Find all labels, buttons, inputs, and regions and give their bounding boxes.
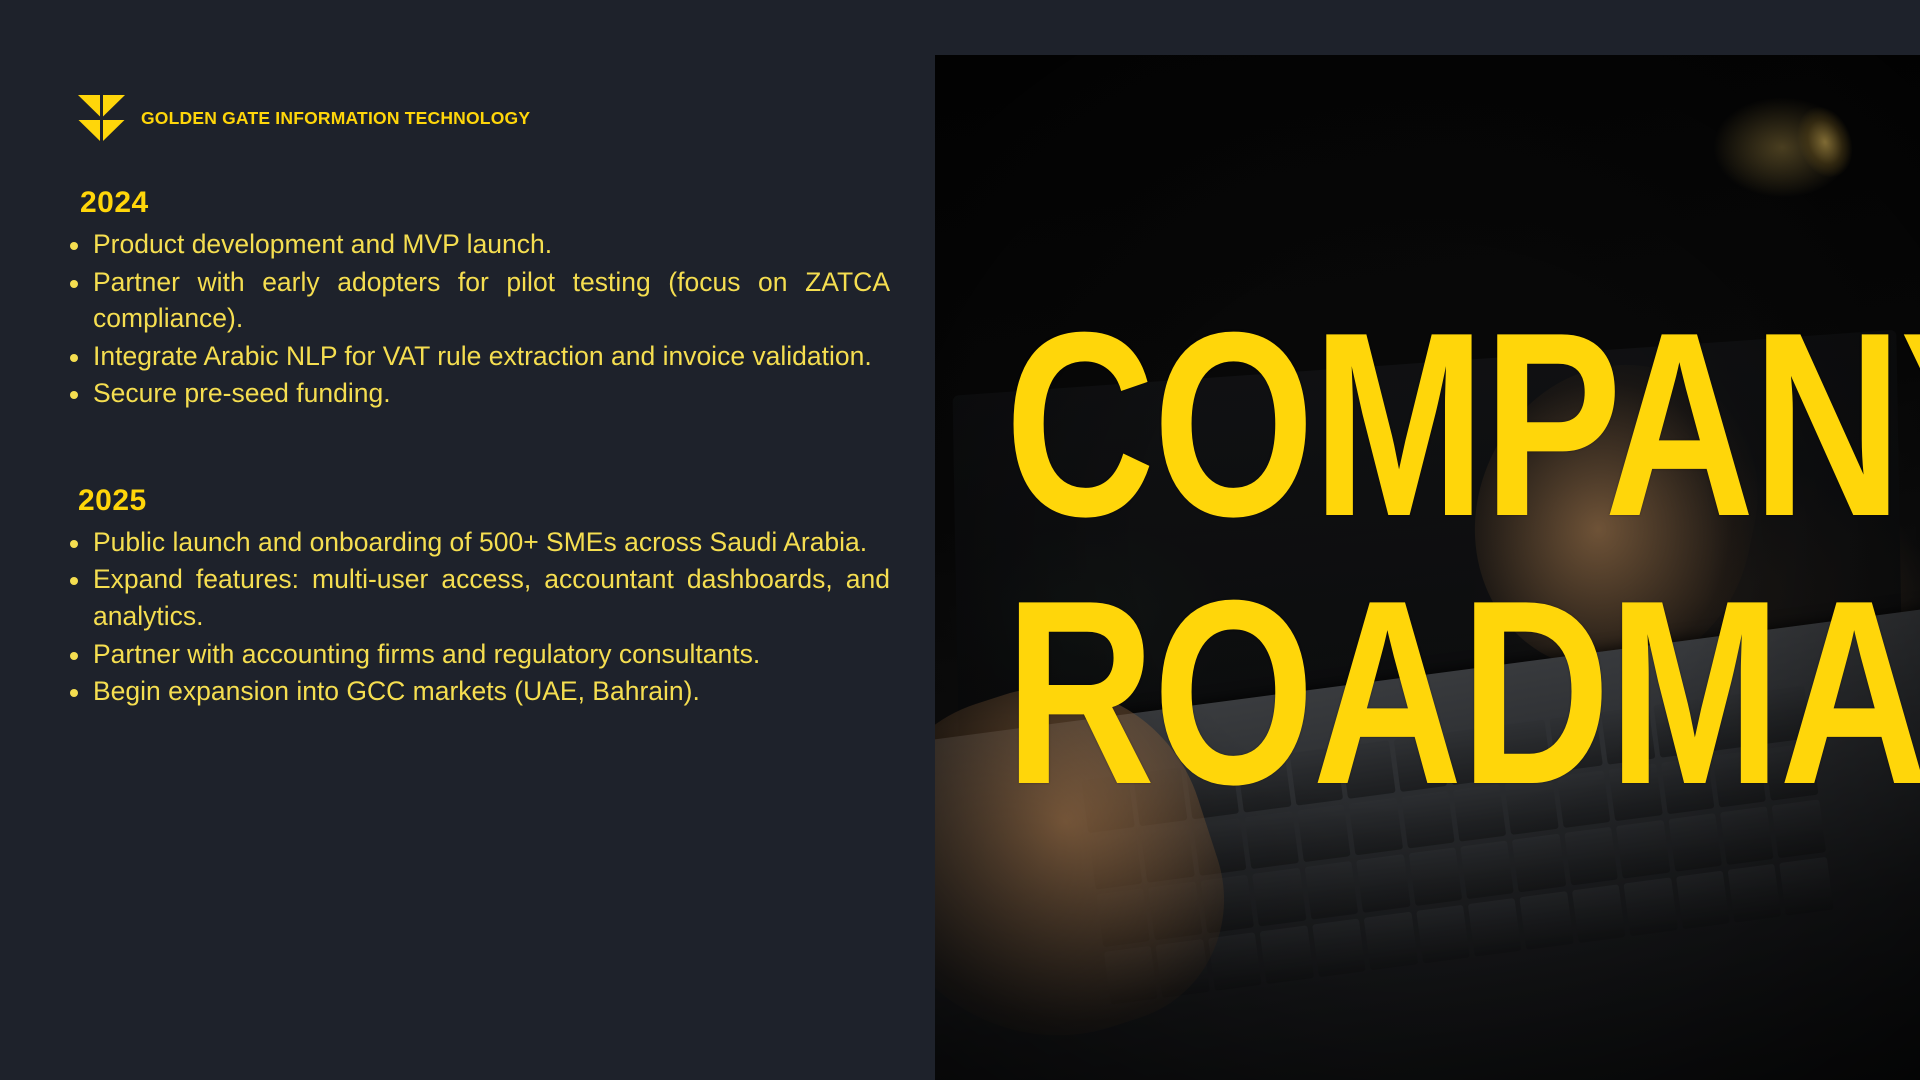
bullet-text: Partner with accounting firms and regula… xyxy=(93,636,890,673)
bullet-text: Partner with early adopters for pilot te… xyxy=(93,264,890,337)
brand-name: GOLDEN GATE INFORMATION TECHNOLOGY xyxy=(141,108,530,129)
roadmap-group-2024: 2024 Product development and MVP launch.… xyxy=(60,186,890,412)
bullet-text: Product development and MVP launch. xyxy=(93,226,890,263)
list-item: Expand features: multi-user access, acco… xyxy=(60,561,890,634)
list-item: Public launch and onboarding of 500+ SME… xyxy=(60,524,890,561)
bullet-list-2024: Product development and MVP launch. Part… xyxy=(60,226,890,412)
list-item: Partner with accounting firms and regula… xyxy=(60,636,890,673)
bullet-text: Integrate Arabic NLP for VAT rule extrac… xyxy=(93,338,890,375)
hero-title-line-1: COMPANY xyxy=(1005,310,1920,541)
logo-triangle-bottom-left xyxy=(78,120,100,142)
roadmap-slide: GOLDEN GATE INFORMATION TECHNOLOGY 2024 … xyxy=(0,0,1920,1080)
bullet-list-2025: Public launch and onboarding of 500+ SME… xyxy=(60,524,890,710)
hero-title-line-2: ROADMAP xyxy=(1005,578,1920,809)
list-item: Product development and MVP launch. xyxy=(60,226,890,263)
roadmap-group-2025: 2025 Public launch and onboarding of 500… xyxy=(60,484,890,710)
bullet-text: Begin expansion into GCC markets (UAE, B… xyxy=(93,673,890,710)
bullet-text: Public launch and onboarding of 500+ SME… xyxy=(93,524,890,561)
brand-lockup: GOLDEN GATE INFORMATION TECHNOLOGY xyxy=(78,95,530,141)
bullet-text: Secure pre-seed funding. xyxy=(93,375,890,412)
year-heading-2025: 2025 xyxy=(78,484,890,518)
list-item: Integrate Arabic NLP for VAT rule extrac… xyxy=(60,338,890,375)
golden-gate-triangles-logo xyxy=(78,95,125,141)
left-content-panel: GOLDEN GATE INFORMATION TECHNOLOGY 2024 … xyxy=(0,0,935,1080)
list-item: Partner with early adopters for pilot te… xyxy=(60,264,890,337)
list-item: Begin expansion into GCC markets (UAE, B… xyxy=(60,673,890,710)
logo-triangle-bottom-right xyxy=(103,120,125,142)
logo-triangle-top-right xyxy=(103,95,125,117)
bullet-text: Expand features: multi-user access, acco… xyxy=(93,561,890,634)
year-heading-2024: 2024 xyxy=(80,186,890,220)
hero-title: COMPANY ROADMAP xyxy=(1005,310,1905,751)
logo-triangle-top-left xyxy=(78,95,100,117)
roadmap-content: 2024 Product development and MVP launch.… xyxy=(60,186,890,711)
hero-image-panel: COMPANY ROADMAP xyxy=(935,55,1920,1080)
list-item: Secure pre-seed funding. xyxy=(60,375,890,412)
